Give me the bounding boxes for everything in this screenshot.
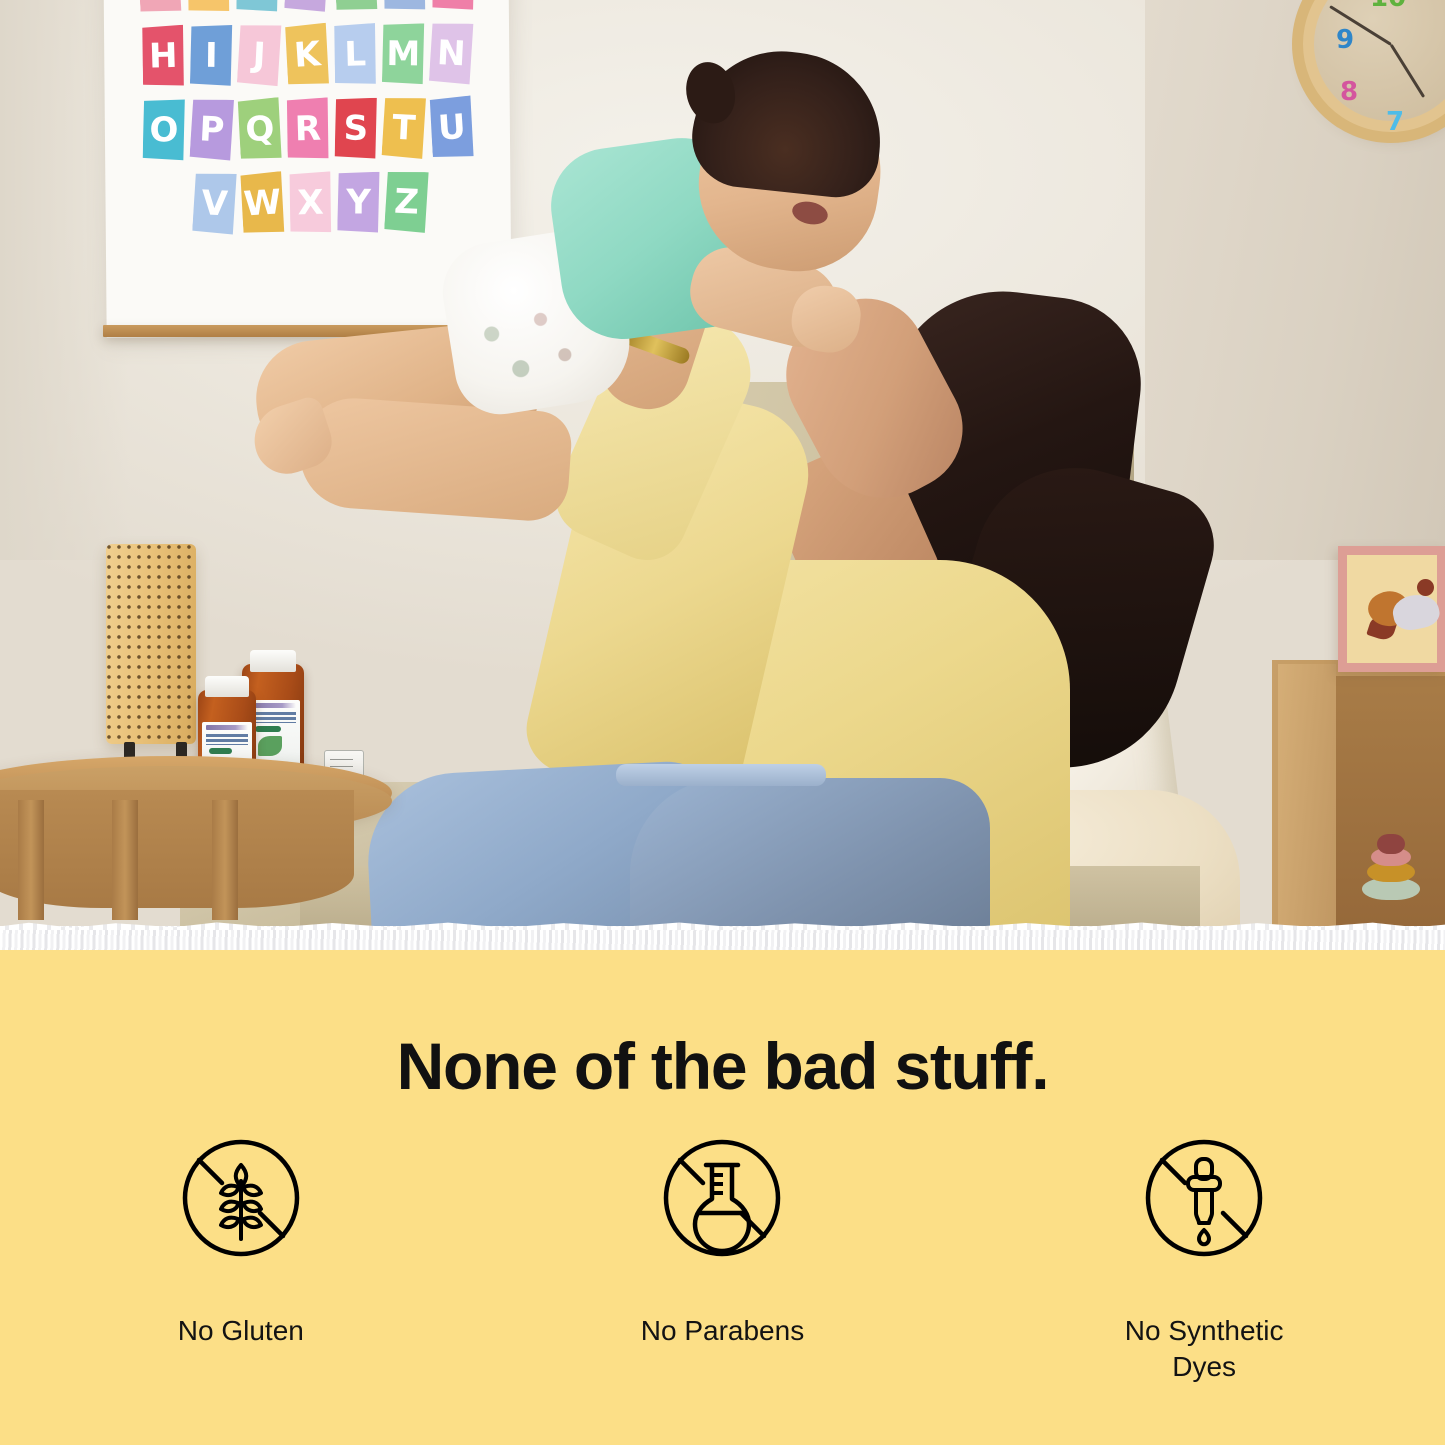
label-title-lines-front [206, 734, 248, 745]
alphabet-row: OPQRSTU [113, 96, 503, 161]
table-leg-mid [112, 800, 138, 920]
claims-list: No Gluten No Parabens [0, 1135, 1445, 1385]
shelf-side-panel [1278, 664, 1336, 938]
label-leaf-graphic [258, 736, 282, 756]
alphabet-tile-m: M [381, 23, 424, 85]
alphabet-tile-r: R [286, 97, 330, 160]
claim-item-no-parabens: No Parabens [482, 1135, 964, 1385]
label-pill-badge [255, 726, 281, 732]
dosing-cup-mark-1 [330, 759, 353, 760]
alphabet-tile-s: S [334, 97, 377, 159]
clock-number-7: 7 [1386, 107, 1404, 137]
clock-number-10: 10 [1370, 0, 1406, 13]
clock-face: 10 9 8 7 [1314, 0, 1445, 121]
alphabet-tile-t: T [381, 96, 426, 160]
oak-side-table-base [0, 790, 354, 908]
stacking-toy [1362, 832, 1420, 898]
claim-item-no-gluten: No Gluten [0, 1135, 482, 1385]
claim-label-no-synthetic-dyes: No Synthetic Dyes [1089, 1313, 1319, 1385]
alphabet-tile-w: W [239, 171, 285, 236]
no-parabens-icon [659, 1135, 785, 1261]
artwork-canvas [1347, 555, 1437, 663]
alphabet-tile-q: Q [236, 97, 282, 162]
clock-hand-hour [1390, 44, 1425, 98]
alphabet-row: ABCDEFG [111, 0, 501, 14]
toy-top-knob [1377, 834, 1405, 854]
alphabet-row: VWXYZ [113, 170, 503, 235]
alphabet-tile-i: I [189, 25, 232, 87]
clock-number-8: 8 [1340, 77, 1358, 107]
no-gluten-icon [178, 1135, 304, 1261]
alphabet-tile-y: Y [337, 171, 380, 233]
mother-jeans-second-leg [630, 778, 990, 938]
page-title: None of the bad stuff. [0, 1028, 1445, 1104]
alphabet-tile-p: P [189, 98, 234, 162]
alphabet-tile-h: H [141, 25, 185, 88]
alphabet-tile-o: O [142, 99, 185, 161]
dosing-cup-mark-2 [330, 766, 353, 767]
product-lifestyle-graphic: ABCDEFGHIJKLMNOPQRSTUVWXYZ 10 9 8 7 [0, 0, 1445, 1445]
table-leg-left [18, 800, 44, 920]
alphabet-tile-e: E [332, 0, 378, 13]
claim-label-no-gluten: No Gluten [178, 1313, 304, 1349]
alphabet-tile-b: B [186, 0, 230, 13]
baby-hair [687, 43, 889, 202]
alphabet-tile-k: K [284, 23, 330, 88]
alphabet-tile-z: Z [384, 170, 429, 234]
alphabet-row: HIJKLMN [112, 22, 502, 87]
lifestyle-photo: ABCDEFGHIJKLMNOPQRSTUVWXYZ 10 9 8 7 [0, 0, 1445, 938]
claims-panel: None of the bad stuff. No Gluten [0, 950, 1445, 1445]
alphabet-tile-v: V [192, 172, 237, 236]
bottle-cap-front [205, 676, 249, 697]
label-title-lines [250, 712, 296, 723]
alphabet-tile-l: L [333, 23, 377, 86]
label-brand-strip [250, 703, 296, 708]
alphabet-tile-n: N [428, 22, 473, 86]
baby-leg-lower [296, 395, 573, 524]
clock-number-9: 9 [1336, 25, 1354, 55]
label-brand-strip-front [206, 725, 248, 730]
alphabet-tile-g: G [432, 0, 475, 11]
rattan-table-lamp [106, 544, 196, 744]
no-synthetic-dyes-icon [1141, 1135, 1267, 1261]
alphabet-tile-c: C [236, 0, 279, 13]
alphabet-tile-u: U [428, 95, 474, 160]
alphabet-tile-d: D [284, 0, 329, 13]
hen-head [1417, 579, 1434, 596]
label-pill-badge-front [209, 748, 232, 754]
alphabet-tile-x: X [288, 171, 332, 234]
jeans-waistband [616, 764, 826, 786]
bottle-cap-back [250, 650, 296, 672]
alphabet-tile-j: J [236, 23, 281, 87]
alphabet-tile-a: A [136, 0, 182, 15]
claim-label-no-parabens: No Parabens [641, 1313, 804, 1349]
claim-item-no-synthetic-dyes: No Synthetic Dyes [963, 1135, 1445, 1385]
framed-hen-artwork [1338, 546, 1445, 672]
alphabet-tile-f: F [382, 0, 426, 12]
table-leg-right [212, 800, 238, 920]
